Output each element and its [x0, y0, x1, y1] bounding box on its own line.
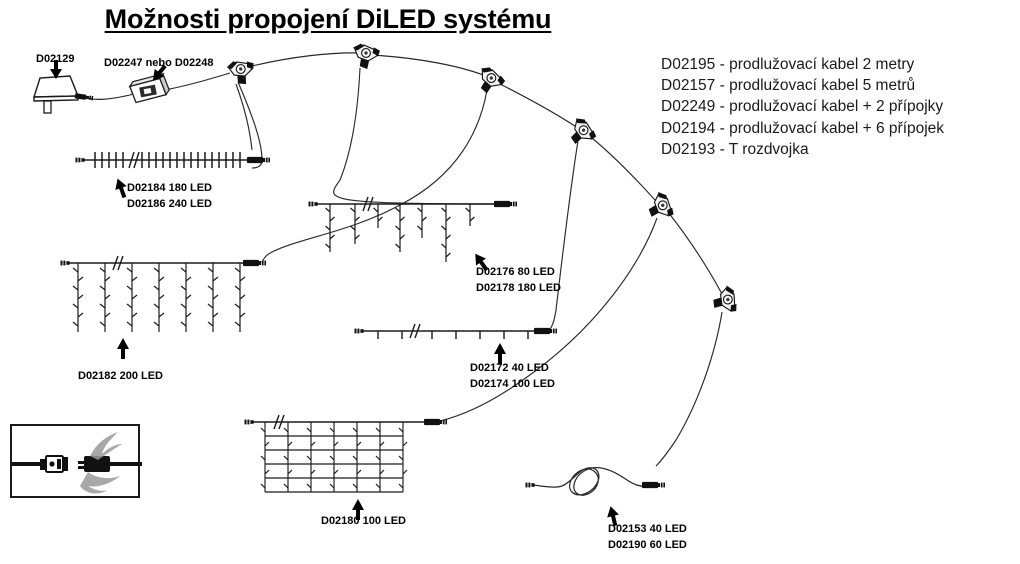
branch-cable-curtain — [236, 84, 252, 150]
label-power-adapter: D02129 — [36, 52, 75, 67]
label-cluster-light-line-2: D02186 240 LED — [127, 197, 212, 213]
branch-cable-string — [548, 141, 578, 331]
t-splitter-3 — [474, 65, 508, 98]
legend-item-d02193: D02193 - T rozdvojka — [661, 139, 1013, 160]
label-curtain-light: D02182 200 LED — [78, 369, 163, 384]
t-splitter-1 — [226, 56, 259, 88]
label-icicle-light: D02176 80 LED D02178 180 LED — [476, 265, 561, 296]
plug-icon — [78, 456, 110, 472]
arrow-curtain-light — [117, 338, 129, 359]
t-splitter-2 — [353, 43, 380, 69]
t-splitter-5 — [642, 189, 679, 226]
string-light — [355, 324, 558, 339]
label-controller: D02247 nebo D02248 — [104, 56, 213, 71]
label-string-light-line-1: D02172 40 LED — [470, 361, 555, 377]
legend-item-d02194: D02194 - prodlužovací kabel + 6 přípojek — [661, 118, 1013, 139]
legend-item-d02157: D02157 - prodlužovací kabel 5 metrů — [661, 75, 1013, 96]
controller-box — [129, 73, 171, 103]
connector-detail-drawing — [12, 426, 142, 500]
label-string-light: D02172 40 LED D02174 100 LED — [470, 361, 555, 392]
label-rope-light: D02153 40 LED D02190 60 LED — [608, 522, 687, 553]
t-splitter-4 — [564, 115, 601, 151]
socket-icon — [40, 456, 68, 472]
rope-light — [526, 468, 666, 496]
label-rope-light-line-2: D02190 60 LED — [608, 538, 687, 554]
legend-item-d02249: D02249 - prodlužovací kabel + 2 přípojky — [661, 96, 1013, 117]
label-cluster-light-line-1: D02184 180 LED — [127, 181, 212, 197]
label-cluster-light: D02184 180 LED D02186 240 LED — [127, 181, 212, 212]
net-light — [245, 415, 448, 492]
diagram-page: Možnosti propojení DiLED systému — [0, 0, 1020, 564]
label-icicle-light-line-1: D02176 80 LED — [476, 265, 561, 281]
branch-cable-curtain-2 — [262, 90, 487, 262]
legend-item-d02195: D02195 - prodlužovací kabel 2 metry — [661, 54, 1013, 75]
branch-cable-cluster — [238, 82, 262, 168]
label-net-light: D02180 100 LED — [321, 514, 406, 529]
label-string-light-line-2: D02174 100 LED — [470, 377, 555, 393]
t-splitter-6 — [708, 284, 743, 320]
label-icicle-light-line-2: D02178 180 LED — [476, 281, 561, 297]
branch-cable-rope — [656, 312, 722, 466]
main-trunk-cable — [78, 53, 722, 294]
label-rope-light-line-1: D02153 40 LED — [608, 522, 687, 538]
legend: D02195 - prodlužovací kabel 2 metry D021… — [661, 54, 1013, 160]
power-adapter — [34, 76, 93, 113]
connector-detail-inset — [10, 424, 140, 498]
cluster-light — [76, 152, 271, 168]
curtain-light — [61, 256, 267, 332]
